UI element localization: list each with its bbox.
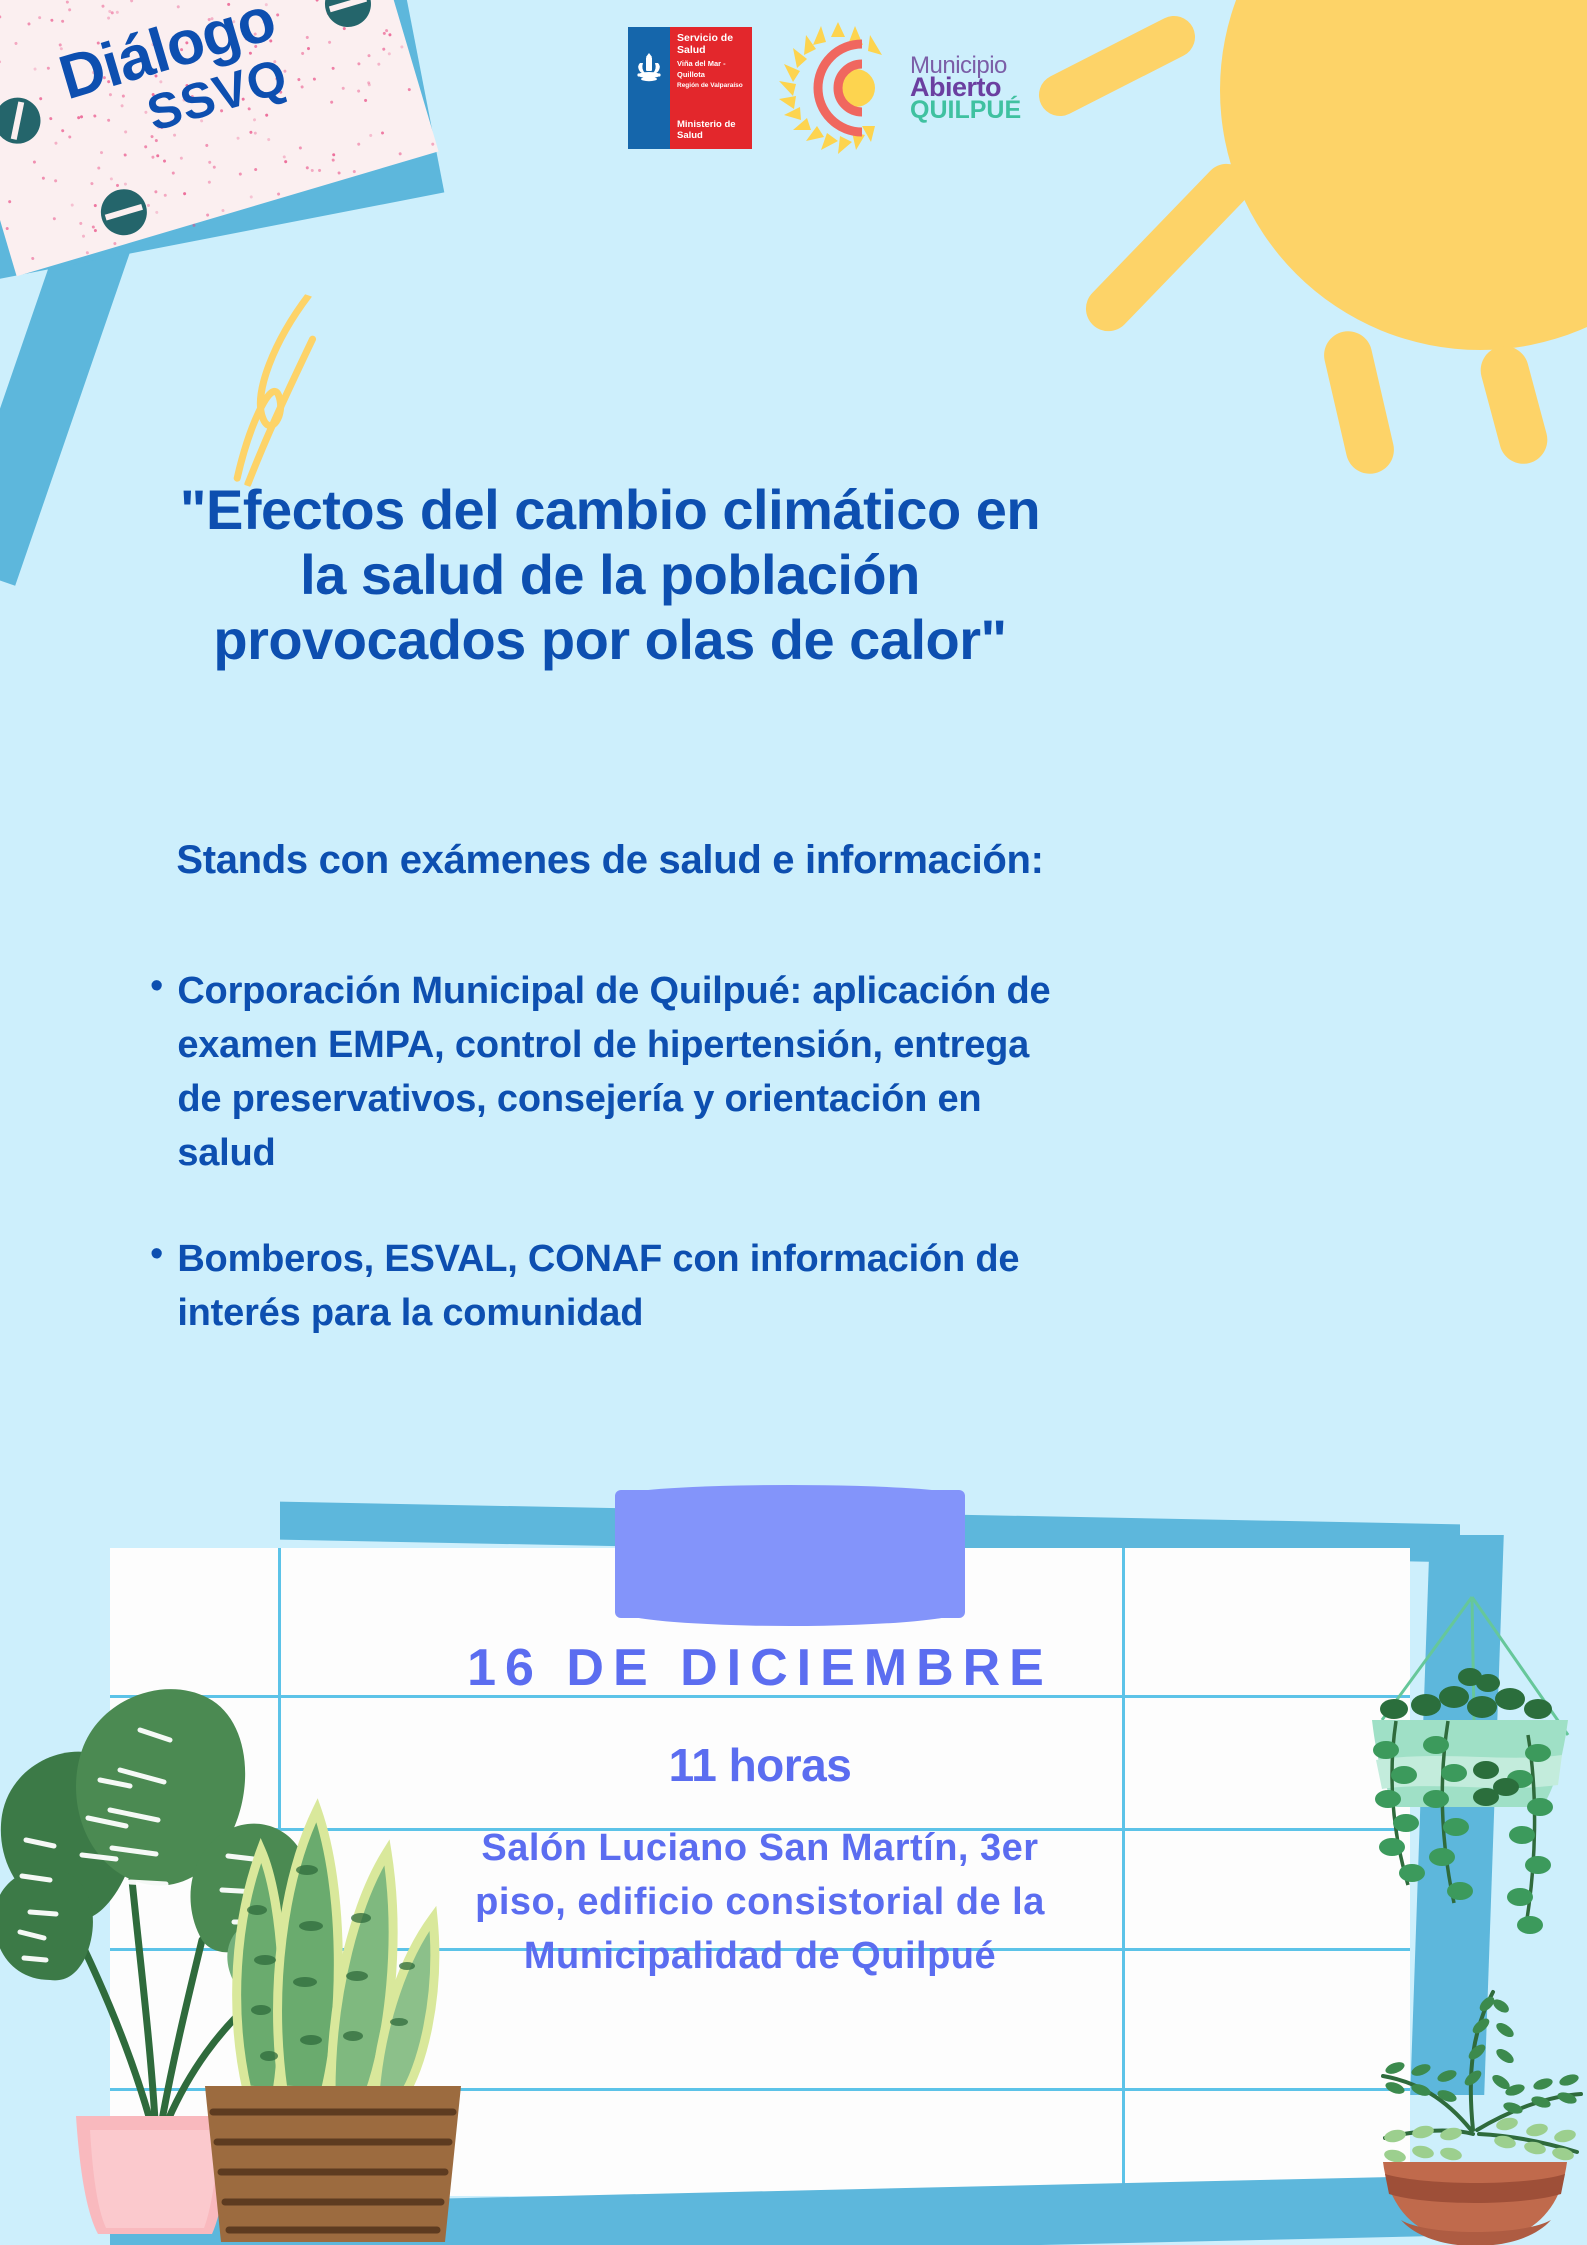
list-item: • Bomberos, ESVAL, CONAF con información… [150, 1233, 1080, 1341]
minsal-region-line1: Viña del Mar - [677, 59, 747, 68]
poster-subtitle: Stands con exámenes de salud e informaci… [110, 838, 1110, 883]
minsal-logo: Servicio de Salud Viña del Mar - Quillot… [628, 27, 752, 149]
quilpue-logo: Municipio Abierto QUILPUÉ [770, 20, 1021, 156]
sun-ray-decoration [1077, 155, 1259, 341]
logo-row: Servicio de Salud Viña del Mar - Quillot… [628, 20, 1021, 156]
bullet-text: Corporación Municipal de Quilpué: aplica… [177, 965, 1080, 1181]
minsal-region-line2: Quillota [677, 70, 747, 79]
sun-arc-icon [770, 20, 906, 156]
fern-terracotta-pot [1355, 1880, 1587, 2245]
sun-circle-decoration [1220, 0, 1587, 350]
snake-plant-woven-basket [165, 1790, 495, 2245]
minsal-red-panel: Servicio de Salud Viña del Mar - Quillot… [670, 27, 752, 149]
list-item: • Corporación Municipal de Quilpué: apli… [150, 965, 1080, 1181]
quilpue-line3: QUILPUÉ [910, 98, 1021, 123]
bullet-text: Bomberos, ESVAL, CONAF con información d… [177, 1233, 1080, 1341]
chile-coat-of-arms-icon [635, 51, 663, 85]
bullet-list: • Corporación Municipal de Quilpué: apli… [150, 965, 1080, 1393]
sun-ray-decoration [1475, 341, 1552, 469]
protest-sign-graphic: Diálogo SSVQ [0, 0, 530, 500]
minsal-ministry-line2: Salud [677, 131, 747, 142]
event-date: 16 DE DICIEMBRE [467, 1638, 1053, 1698]
poster-title: "Efectos del cambio climático en la salu… [110, 478, 1110, 673]
poster-canvas: Diálogo SSVQ [0, 0, 1587, 2245]
bullet-marker-icon: • [150, 967, 163, 1181]
minsal-name: Servicio de Salud [677, 33, 747, 57]
title-line-3: provocados por olas de calor" [110, 608, 1110, 673]
minsal-blue-panel [628, 27, 670, 149]
sun-ray-decoration [1319, 326, 1398, 478]
bullet-marker-icon: • [150, 1235, 163, 1341]
sign-squiggle-icon [215, 286, 337, 495]
event-time: 11 horas [669, 1738, 852, 1792]
title-line-2: la salud de la población [110, 543, 1110, 608]
sun-ray-decoration [1032, 9, 1203, 124]
minsal-region-line3: Región de Valparaíso [677, 82, 747, 90]
title-line-1: "Efectos del cambio climático en [110, 478, 1110, 543]
